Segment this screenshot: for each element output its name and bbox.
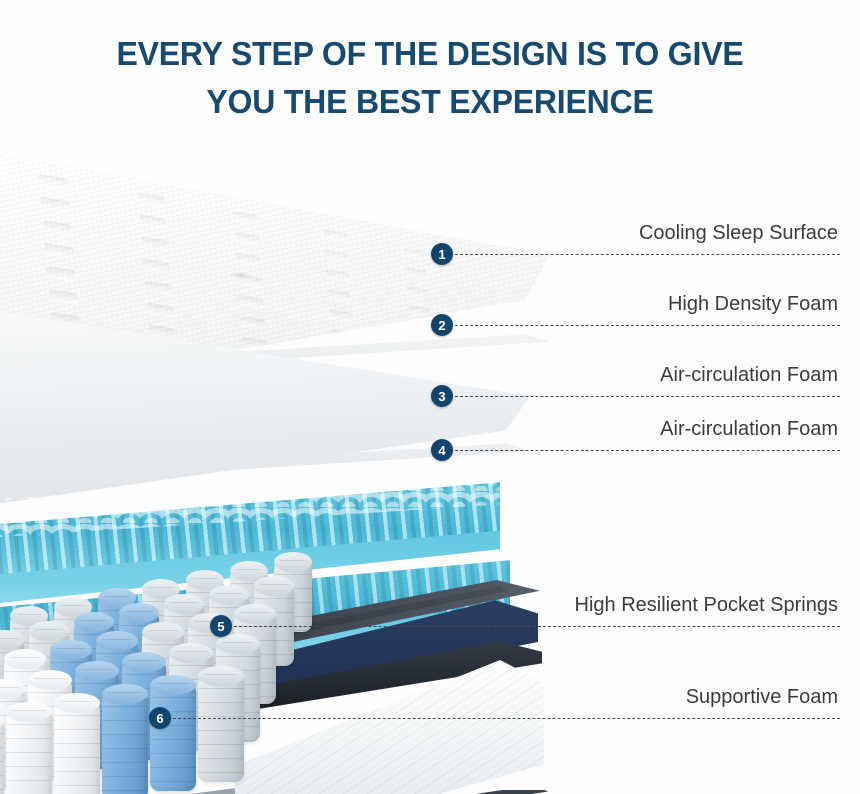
quilt-dimple	[141, 236, 168, 250]
mattress-infographic: EVERY STEP OF THE DESIGN IS TO GIVE YOU …	[0, 0, 860, 794]
callout-badge-2[interactable]: 2	[431, 314, 453, 336]
quilt-dimple	[49, 289, 78, 304]
callout-badge-6[interactable]: 6	[149, 707, 171, 729]
quilt-dimple	[406, 267, 427, 278]
callout-label-6: Supportive Foam	[686, 685, 838, 709]
quilt-dimple	[329, 309, 352, 321]
quilt-dimple	[240, 316, 265, 329]
callout-badge-4[interactable]: 4	[431, 439, 453, 461]
quilt-dimple	[239, 295, 264, 308]
quilt-dimple	[139, 214, 166, 228]
pocket-spring-coils	[150, 683, 196, 791]
quilt-dimple	[234, 232, 259, 245]
pocket-spring	[150, 683, 196, 791]
page-title-line-1: EVERY STEP OF THE DESIGN IS TO GIVE	[13, 30, 847, 78]
callout-label-5: High Resilient Pocket Springs	[575, 593, 838, 617]
quilt-dimple	[237, 274, 262, 287]
callout-leader-line-1	[455, 254, 840, 255]
quilt-dimple	[39, 174, 68, 189]
callout-badge-3[interactable]: 3	[431, 385, 453, 407]
quilt-dimple	[236, 253, 261, 266]
callout-leader-line-5	[234, 626, 840, 627]
quilt-dimple	[145, 280, 172, 294]
quilt-dimple	[143, 258, 170, 272]
quilt-dimple	[407, 286, 428, 297]
pocket-spring	[0, 719, 4, 794]
page-title-line-2: YOU THE BEST EXPERIENCE	[13, 78, 847, 126]
quilt-dimple	[242, 337, 267, 350]
pocket-spring	[54, 701, 100, 794]
callout-label-3: Air-circulation Foam	[660, 363, 838, 387]
pocket-spring	[102, 692, 148, 794]
callout-label-4: Air-circulation Foam	[660, 417, 838, 441]
quilt-dimple	[408, 305, 429, 316]
callout-badge-5[interactable]: 5	[210, 615, 232, 637]
callout-leader-line-6	[173, 718, 840, 719]
quilt-dimple	[41, 197, 70, 212]
quilt-dimple	[138, 192, 165, 206]
quilt-dimple	[43, 220, 72, 235]
quilt-dimple	[47, 266, 76, 281]
callout-leader-line-3	[455, 396, 840, 397]
callout-label-1: Cooling Sleep Surface	[639, 221, 838, 245]
pocket-spring	[198, 674, 244, 782]
page-title: EVERY STEP OF THE DESIGN IS TO GIVE YOU …	[13, 30, 847, 126]
callout-label-2: High Density Foam	[668, 292, 838, 316]
pocket-spring-coils	[54, 701, 100, 794]
quilt-dimple	[323, 229, 346, 241]
callout-leader-line-2	[455, 325, 840, 326]
pocket-spring-coils	[198, 674, 244, 782]
pocket-spring-coils	[0, 719, 4, 794]
pocket-spring-coils	[102, 692, 148, 794]
mattress-exploded-illustration	[0, 140, 620, 790]
pocket-spring-coils	[6, 710, 52, 794]
quilt-dimple	[325, 249, 348, 261]
quilt-dimple	[409, 324, 430, 335]
quilt-dimple	[405, 248, 426, 259]
callout-badge-1[interactable]: 1	[431, 243, 453, 265]
quilt-dimple	[330, 329, 353, 341]
quilt-dimple	[232, 211, 257, 224]
pocket-spring	[6, 710, 52, 794]
callout-leader-line-4	[455, 450, 840, 451]
quilt-dimple	[45, 243, 74, 258]
quilt-dimple	[326, 269, 349, 281]
quilt-dimple	[147, 302, 174, 316]
quilt-dimple	[327, 289, 350, 301]
